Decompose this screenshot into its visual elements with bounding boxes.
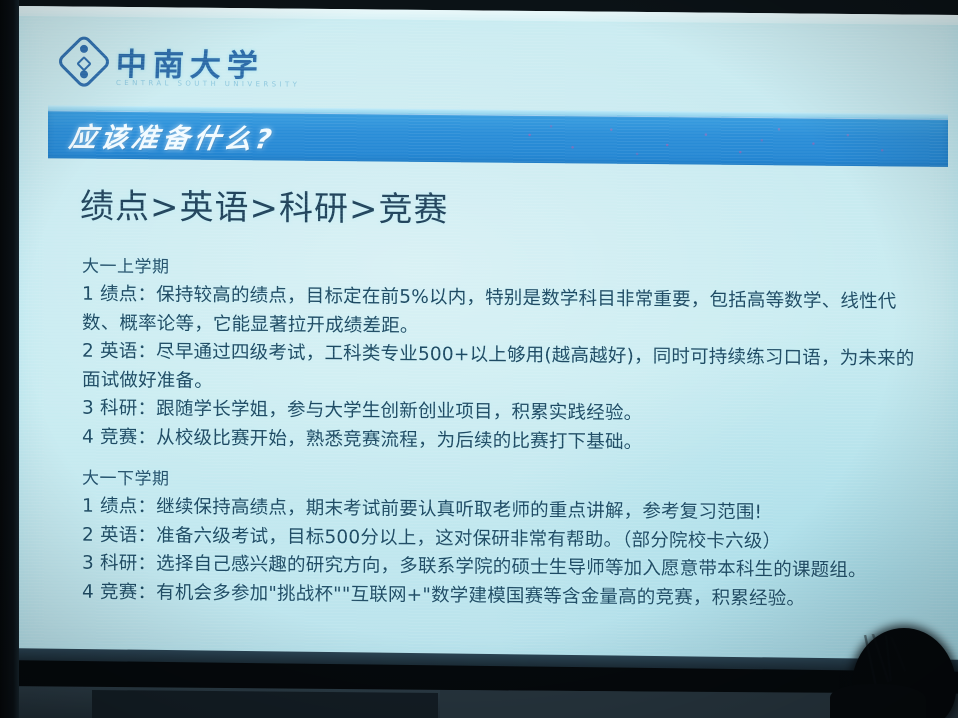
- desk-panel-left: [92, 690, 438, 718]
- chromatic-noise-speckle: [478, 118, 908, 162]
- semester-block-second: 大一下学期 1 绩点：继续保持高绩点，期末考试前要认真听取老师的重点讲解，参考复…: [82, 465, 932, 615]
- slide-canvas: 中南大学 CENTRAL SOUTH UNIVERSITY 应该准备什么? 绩点…: [18, 16, 958, 661]
- university-logo: 中南大学: [64, 38, 264, 85]
- semester-block-first: 大一上学期 1 绩点：保持较高的绩点，目标定在前5%以内，特别是数学科目非常重要…: [82, 253, 932, 460]
- university-name-en: CENTRAL SOUTH UNIVERSITY: [116, 79, 300, 89]
- slide-title-banner: 应该准备什么?: [48, 110, 948, 167]
- slide-headline: 绩点>英语>科研>竞赛: [80, 179, 448, 232]
- csu-diamond-logo-icon: [56, 33, 113, 90]
- left-wall-edge: [0, 0, 19, 718]
- semester-line: 2 英语：尽早通过四级考试，工科类专业500+以上够用(越高越好)，同时可持续练…: [82, 338, 932, 403]
- audience-head-silhouette: [834, 618, 958, 718]
- photo-of-projected-slide: 中南大学 CENTRAL SOUTH UNIVERSITY 应该准备什么? 绩点…: [0, 0, 958, 718]
- projection-screen: 中南大学 CENTRAL SOUTH UNIVERSITY 应该准备什么? 绩点…: [18, 6, 958, 661]
- semester-line: 1 绩点：保持较高的绩点，目标定在前5%以内，特别是数学科目非常重要，包括高等数…: [82, 281, 932, 346]
- slide-title-text: 应该准备什么?: [67, 116, 279, 157]
- shoulder-shape: [830, 684, 926, 718]
